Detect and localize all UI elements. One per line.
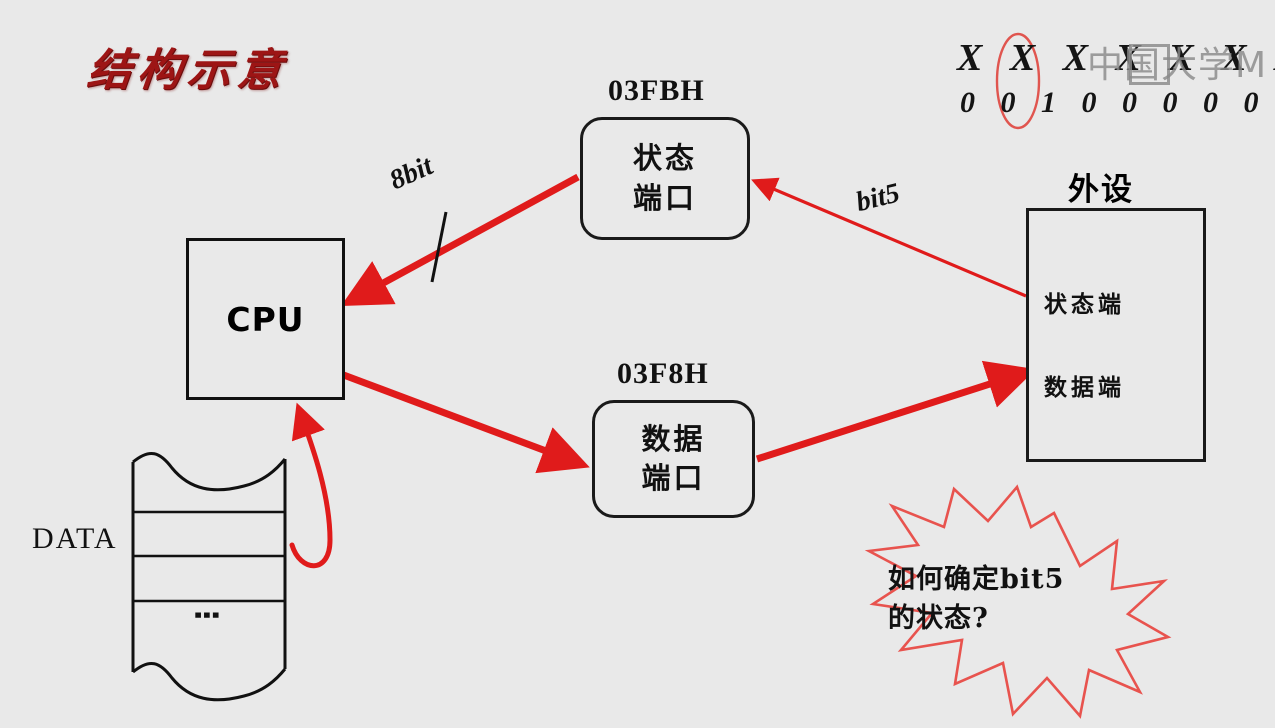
peripheral-data-row: 数据端 bbox=[1044, 368, 1125, 402]
page-title: 结构示意 bbox=[85, 34, 292, 98]
edge-data-port-to-peripheral bbox=[757, 373, 1024, 459]
edge-memory-to-cpu bbox=[292, 412, 330, 566]
callout-text: 如何确定bit5 的状态? bbox=[888, 560, 1118, 638]
callout-line2: 的状态? bbox=[888, 599, 1118, 638]
peripheral-node bbox=[1026, 208, 1206, 462]
status-port-label-line1: 状态 bbox=[633, 139, 697, 178]
memory-block bbox=[133, 453, 285, 699]
data-port-address: 03F8H bbox=[617, 357, 709, 391]
peripheral-title: 外设 bbox=[1068, 164, 1134, 209]
data-port-label-line2: 端口 bbox=[641, 459, 705, 498]
edge-status-port-to-cpu bbox=[352, 177, 578, 300]
bit-values: 0 0 1 0 0 0 0 0 bbox=[960, 86, 1268, 120]
status-port-address: 03FBH bbox=[608, 74, 705, 108]
edge-cpu-to-data-port bbox=[341, 374, 578, 463]
data-port-label-line1: 数据 bbox=[641, 420, 705, 459]
peripheral-status-row: 状态端 bbox=[1044, 285, 1125, 319]
callout-line1: 如何确定bit5 bbox=[888, 560, 1118, 599]
cpu-node: CPU bbox=[186, 238, 345, 400]
cpu-label: CPU bbox=[226, 300, 304, 339]
mooc-watermark-badge-icon bbox=[1129, 44, 1170, 85]
status-port-label-line2: 端口 bbox=[633, 179, 697, 218]
mooc-watermark-text: 中国大学M bbox=[1087, 36, 1267, 88]
memory-ellipsis-icon: ⋮ bbox=[199, 600, 212, 630]
memory-label: DATA bbox=[32, 522, 118, 556]
status-port-node: 状态 端口 bbox=[580, 117, 750, 240]
diagram-canvas: 结构示意 X X X X X X X X 0 0 1 0 0 0 0 0 中国大… bbox=[0, 0, 1275, 728]
data-port-node: 数据 端口 bbox=[592, 400, 755, 518]
